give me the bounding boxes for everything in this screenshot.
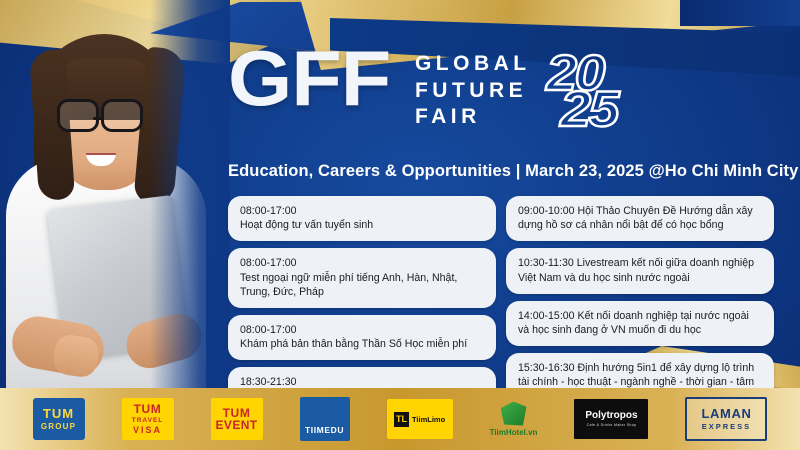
hair-fringe-icon — [48, 58, 162, 120]
schedule-card[interactable]: 08:00-17:00 Test ngoại ngữ miễn phí tiến… — [228, 248, 496, 308]
sponsor-logo-tum-event[interactable]: TUM EVENT — [211, 398, 263, 440]
schedule-card[interactable]: 09:00-10:00 Hội Thảo Chuyên Đề Hướng dẫn… — [506, 196, 774, 241]
sponsor-logo-tiimlimo[interactable]: TL TiimLimo — [387, 399, 453, 439]
neck-icon — [74, 146, 124, 192]
polytropos-tagline: Cafe & Drinks Maker Shop — [587, 423, 637, 427]
tum-visa-line-2: TRAVEL — [132, 417, 164, 424]
logo-row: GFF GLOBAL FUTURE FAIR 20 25 — [228, 46, 788, 140]
tiimhotel-label: TiimHotel.vn — [490, 428, 538, 437]
tiimedu-label: TIIMEDU — [305, 425, 344, 435]
schedule-card[interactable]: 10:30-11:30 Livestream kết nối giữa doan… — [506, 248, 774, 293]
wordmark-line-2: FUTURE — [415, 79, 531, 103]
tum-group-line-1: TUM — [43, 407, 74, 420]
schedule-right-column: 09:00-10:00 Hội Thảo Chuyên Đề Hướng dẫn… — [506, 196, 774, 413]
schedule-desc: Khám phá bản thân bằng Thần Số Học miễn … — [240, 337, 484, 351]
wordmark: GLOBAL FUTURE FAIR — [415, 52, 531, 129]
year-badge: 20 25 — [547, 48, 643, 140]
tum-event-line-2: EVENT — [216, 419, 258, 432]
wordmark-line-3: FAIR — [415, 105, 531, 129]
hair-back-icon — [34, 34, 174, 212]
tshirt-icon — [6, 158, 206, 388]
poster-header: GFF GLOBAL FUTURE FAIR 20 25 — [228, 46, 788, 140]
schedule-time: 08:00-17:00 — [240, 204, 484, 218]
face-icon — [58, 72, 152, 190]
schedule-card[interactable]: 14:00-15:00 Kết nối doanh nghiệp tại nướ… — [506, 301, 774, 346]
sponsor-logo-tiimedu[interactable]: TIIMEDU — [300, 397, 350, 441]
glasses-bridge-icon — [93, 117, 103, 121]
schedule-time: 10:30-11:30 — [518, 257, 574, 269]
arm-right-icon — [121, 308, 207, 373]
tum-visa-line-3: VISA — [133, 425, 162, 435]
laman-line-2: EXPRESS — [702, 422, 751, 431]
event-subtitle: Education, Careers & Opportunities | Mar… — [228, 162, 790, 181]
schedule-time: 08:00-17:00 — [240, 256, 484, 270]
hair-left-icon — [29, 49, 75, 201]
schedule-card[interactable]: 08:00-17:00 Hoạt động tư vấn tuyển sinh — [228, 196, 496, 241]
sponsor-logo-polytropos[interactable]: Polytropos Cafe & Drinks Maker Shop — [574, 399, 648, 439]
tiimlimo-label: TiimLimo — [412, 415, 445, 424]
wordmark-line-1: GLOBAL — [415, 52, 531, 76]
arm-left-icon — [8, 312, 108, 379]
schedule-time: 14:00-15:00 — [518, 310, 575, 322]
laptop-icon — [47, 195, 190, 359]
year-bottom: 25 — [560, 80, 617, 138]
schedule-columns: 08:00-17:00 Hoạt động tư vấn tuyển sinh … — [228, 196, 790, 413]
smile-icon — [86, 153, 116, 166]
student-photo — [0, 0, 215, 388]
sponsor-logo-tum-group[interactable]: TUM GROUP — [33, 398, 85, 440]
tum-event-line-1: TUM — [223, 407, 251, 419]
schedule-time: 08:00-17:00 — [240, 323, 484, 337]
laman-line-1: LAMAN — [702, 407, 752, 420]
schedule-card[interactable]: 08:00-17:00 Khám phá bản thân bằng Thần … — [228, 315, 496, 360]
sponsor-footer: TUM GROUP TUM TRAVEL VISA TUM EVENT TIIM… — [0, 388, 800, 450]
schedule-time: 15:30-16:30 — [518, 362, 575, 374]
polytropos-label: Polytropos — [585, 411, 637, 421]
sponsor-logo-tum-travel-visa[interactable]: TUM TRAVEL VISA — [122, 398, 174, 440]
sponsor-logo-laman-express[interactable]: LAMAN EXPRESS — [685, 397, 767, 441]
glasses-right-lens-icon — [101, 99, 143, 132]
schedule-left-column: 08:00-17:00 Hoạt động tư vấn tuyển sinh … — [228, 196, 496, 413]
tum-group-line-2: GROUP — [41, 422, 76, 431]
hand-icon — [51, 333, 100, 379]
gff-logo: GFF — [228, 46, 390, 112]
event-poster: GFF GLOBAL FUTURE FAIR 20 25 Education, … — [0, 0, 800, 450]
tiimhotel-leaf-icon — [501, 402, 527, 426]
hair-right-icon — [133, 47, 186, 206]
blue-corner-patch-icon — [680, 0, 800, 26]
photo-fade-overlay — [150, 0, 230, 388]
tiimlimo-mark-icon: TL — [394, 412, 409, 427]
schedule-desc: Hoạt động tư vấn tuyển sinh — [240, 218, 484, 232]
glasses-left-lens-icon — [57, 99, 99, 132]
schedule-time: 09:00-10:00 — [518, 205, 575, 217]
schedule-desc: Test ngoại ngữ miễn phí tiếng Anh, Hàn, … — [240, 271, 484, 299]
sponsor-logo-tiimhotel[interactable]: TiimHotel.vn — [490, 402, 538, 437]
tum-visa-line-1: TUM — [134, 403, 162, 415]
